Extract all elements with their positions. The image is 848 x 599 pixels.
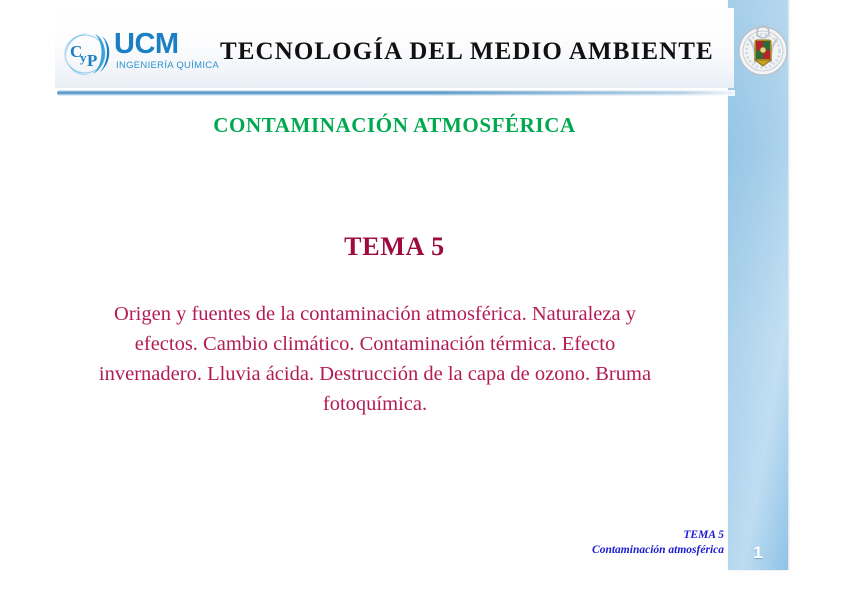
slide-canvas: 1 C y P UC — [0, 0, 848, 599]
tema-description: Origen y fuentes de la contaminación atm… — [95, 299, 655, 419]
ucm-seal-icon — [735, 22, 791, 78]
header-divider-fade — [57, 90, 735, 96]
subject-title: CONTAMINACIÓN ATMOSFÉRICA — [55, 113, 734, 138]
footer-subject-label: Contaminación atmosférica — [480, 543, 724, 558]
cyp-logo-icon: C y P — [62, 30, 114, 78]
tema-heading: TEMA 5 — [55, 232, 734, 262]
side-accent-column — [728, 0, 788, 570]
footer-tema-label: TEMA 5 — [480, 528, 724, 543]
slide-footer: TEMA 5 Contaminación atmosférica — [480, 528, 724, 558]
cyp-ucm-logo: C y P UCM INGENIERÍA QUÍMICA — [62, 28, 232, 80]
logo-letter-p: P — [87, 51, 97, 70]
page-number: 1 — [728, 536, 788, 570]
logo-department-subtitle: INGENIERÍA QUÍMICA — [116, 61, 219, 71]
side-column-sheen — [728, 0, 788, 570]
logo-letter-y: y — [80, 50, 87, 65]
course-title: TECNOLOGÍA DEL MEDIO AMBIENTE — [220, 38, 700, 66]
logo-ucm-wordmark: UCM — [114, 30, 179, 59]
